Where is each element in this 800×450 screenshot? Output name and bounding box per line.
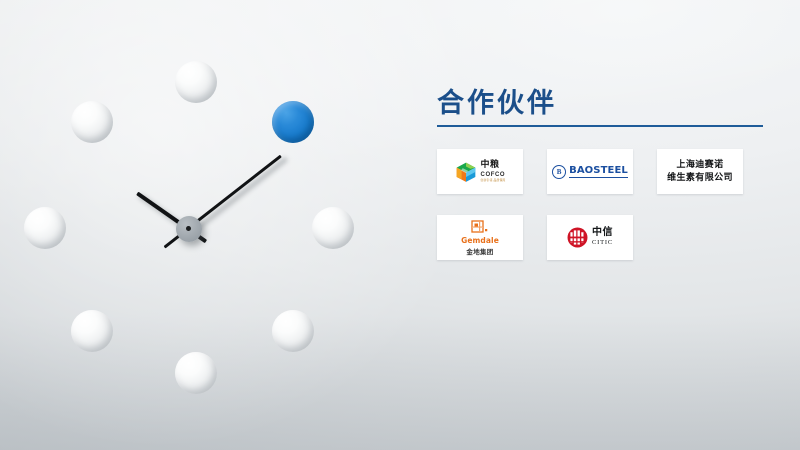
gemdale-square-icon: [471, 220, 488, 235]
clock-marker-12: [175, 61, 217, 103]
clock-hub-pin: [186, 226, 191, 231]
clock-marker-ball: [71, 310, 113, 352]
clock-marker-ball: [71, 101, 113, 143]
clock-marker-10: [71, 101, 113, 143]
clock-marker-ball: [272, 310, 314, 352]
minute-hand: [187, 155, 282, 230]
minute-hand-shadow: [190, 157, 288, 235]
cofco-name-cn: 中粮: [481, 161, 500, 170]
wall-clock-graphic: [0, 0, 400, 450]
desano-name-line1: 上海迪赛诺: [667, 159, 733, 172]
title-underline-rule: [437, 125, 763, 127]
page-title: 合作伙伴: [432, 88, 772, 119]
desano-name-line2: 维生素有限公司: [667, 172, 733, 185]
clock-marker-6: [175, 352, 217, 394]
baosteel-logo: B BAOSTEEL: [552, 165, 628, 179]
gemdale-name-cn: 金地集团: [466, 246, 493, 256]
citic-name-en: CITIC: [592, 240, 613, 247]
citic-icon-svg: [567, 227, 588, 248]
clock-marker-1-highlight: [272, 101, 314, 143]
cofco-tagline: 创新引领 品质保障: [481, 179, 506, 182]
clock-marker-ball: [272, 101, 314, 143]
slide-canvas: 合作伙伴: [0, 0, 800, 450]
clock-marker-ball: [24, 207, 66, 249]
clock-marker-ball: [312, 207, 354, 249]
partners-panel: 合作伙伴: [432, 88, 772, 260]
cofco-name-en: COFCO: [481, 172, 506, 178]
partner-card-cofco[interactable]: 中粮 COFCO 创新引领 品质保障: [437, 149, 523, 194]
clock-marker-ball: [175, 352, 217, 394]
gemdale-icon-svg: [471, 220, 488, 235]
clock-marker-9: [24, 207, 66, 249]
citic-logo: 中信 CITIC: [567, 227, 613, 248]
citic-emblem-icon: [567, 227, 588, 248]
gemdale-name-en: Gemdale: [461, 236, 499, 245]
partner-card-citic[interactable]: 中信 CITIC: [547, 215, 633, 260]
cofco-cube-svg: [455, 161, 477, 183]
partner-card-desano[interactable]: 上海迪赛诺 维生素有限公司: [657, 149, 743, 194]
gemdale-logo: Gemdale 金地集团: [461, 220, 499, 256]
cofco-logo: 中粮 COFCO 创新引领 品质保障: [455, 161, 506, 183]
citic-wordmark: 中信 CITIC: [592, 228, 613, 246]
clock-marker-7: [71, 310, 113, 352]
clock-marker-4: [272, 310, 314, 352]
cofco-wordmark: 中粮 COFCO 创新引领 品质保障: [481, 161, 506, 182]
cofco-cube-icon: [455, 161, 477, 183]
clock-marker-3: [312, 207, 354, 249]
desano-logo: 上海迪赛诺 维生素有限公司: [667, 159, 733, 185]
baosteel-emblem-icon: B: [552, 165, 566, 179]
clock-marker-ball: [175, 61, 217, 103]
partner-logo-grid: 中粮 COFCO 创新引领 品质保障 B BAOSTEEL 上海迪赛诺 维生素有…: [437, 149, 767, 260]
partner-card-gemdale[interactable]: Gemdale 金地集团: [437, 215, 523, 260]
partner-card-baosteel[interactable]: B BAOSTEEL: [547, 149, 633, 194]
baosteel-name-en: BAOSTEEL: [569, 165, 628, 178]
citic-name-cn: 中信: [592, 228, 613, 239]
